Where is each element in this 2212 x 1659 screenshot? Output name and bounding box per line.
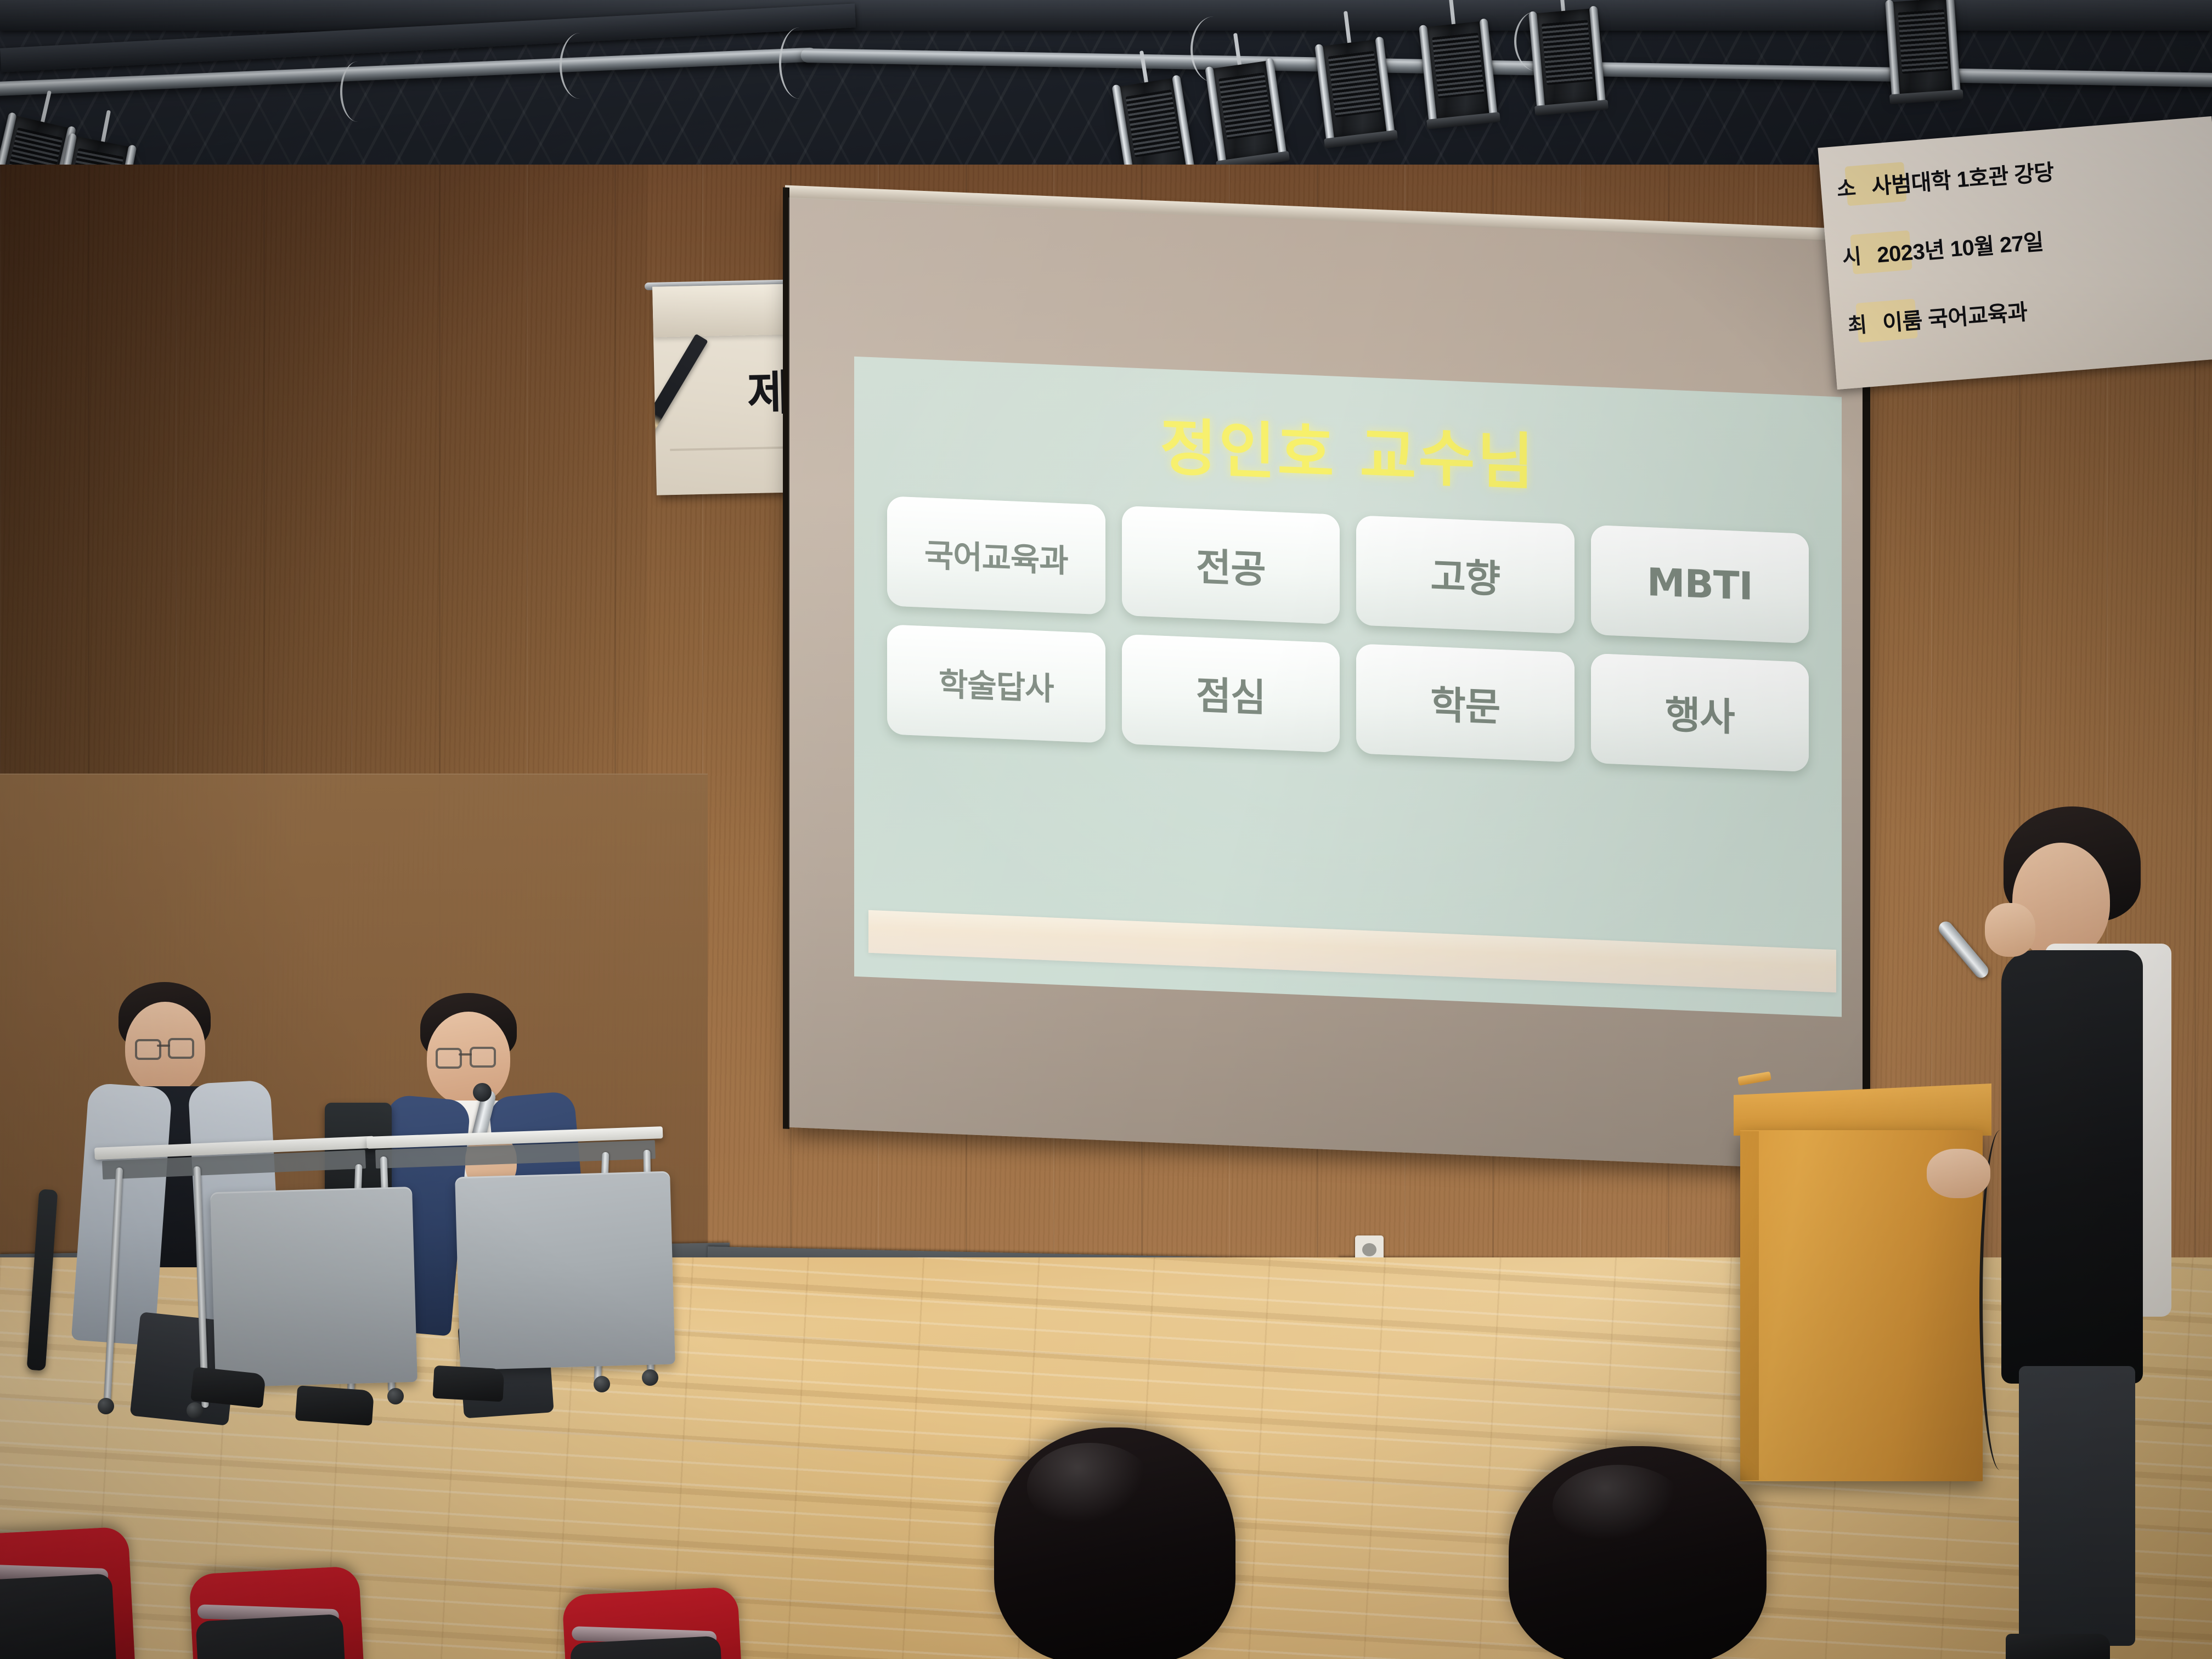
banner-value-host: 이룸 국어교육과: [1881, 294, 2029, 337]
banner-key-host: 최: [1831, 306, 1883, 340]
stage-light: [1531, 8, 1604, 108]
shoe: [433, 1365, 505, 1402]
glasses-lens-right: [470, 1047, 496, 1068]
banner-key-date: 시: [1825, 238, 1878, 272]
banner-key-location: 소: [1820, 170, 1872, 204]
lamp-vents: [1126, 89, 1181, 157]
audience-seat: [562, 1587, 744, 1659]
table-caster: [594, 1376, 610, 1392]
hair-highlight: [1553, 1465, 1684, 1547]
seat-cushion: [0, 1573, 117, 1659]
glasses-bridge: [157, 1045, 170, 1047]
stage-light: [1317, 39, 1392, 140]
lamp-vents: [1218, 72, 1273, 140]
podium-side-shadow: [1740, 1131, 1759, 1480]
stage-chair-front-left: [210, 1187, 417, 1387]
screen-sheen: [788, 198, 1864, 1171]
banner-value-location: 사범대학 1호관 강당: [1870, 154, 2055, 201]
hair-highlight: [1027, 1443, 1153, 1531]
moderator-podium: [1953, 806, 2211, 1659]
microphone-head: [473, 1083, 492, 1102]
shoe: [2006, 1634, 2110, 1659]
stage-chair-front-right: [455, 1171, 675, 1370]
shoe: [295, 1385, 374, 1426]
lamp-vents: [1328, 51, 1381, 117]
banner-fold: [652, 284, 797, 337]
table-caster: [98, 1398, 114, 1414]
projection-screen: 정인호 교수님 국어교육과 전공 고향 MBTI 학술답사 점심 학문 행사: [788, 198, 1864, 1171]
glasses-lens-right: [168, 1038, 194, 1059]
ceiling-beam-top: [0, 0, 2212, 31]
glasses-bridge: [459, 1053, 472, 1056]
audience-head: [1509, 1446, 1767, 1659]
stage-light: [1207, 60, 1285, 163]
blazer: [2001, 950, 2143, 1384]
table-caster: [387, 1388, 404, 1404]
table-caster: [642, 1369, 658, 1386]
lamp-vents: [1542, 20, 1593, 85]
hand-holding-mic: [1985, 903, 2035, 957]
banner-value-date: 2023년 10월 27일: [1876, 224, 2045, 269]
stage-light: [1421, 21, 1495, 121]
event-info-banner: 소 사범대학 1호관 강당 시 2023년 10월 27일 최 이룸 국어교육과: [1818, 116, 2212, 390]
hand-on-podium: [1927, 1149, 1990, 1198]
audience-head: [994, 1427, 1235, 1659]
audience-seat: [189, 1566, 365, 1659]
trousers: [2019, 1366, 2135, 1646]
stage-light: [1887, 0, 1959, 97]
truss-cable: [340, 61, 375, 122]
pencil-icon: [652, 334, 708, 440]
truss-cable: [560, 33, 600, 99]
table-caster: [187, 1402, 203, 1419]
blazer-left-panel: [71, 1082, 172, 1345]
screenshot-root: 제 정인호 교수님 국어교육과 전공 고향 MBTI 학술답사 점심 학문 행사: [0, 0, 2212, 1659]
lamp-vents: [1898, 9, 1948, 74]
hanging-pencil-banner: 제: [652, 284, 800, 495]
lamp-vents: [1432, 32, 1484, 98]
glasses-lens-left: [436, 1048, 462, 1069]
banner-rule: [670, 446, 795, 451]
glasses-lens-left: [135, 1039, 161, 1060]
seat-cushion: [195, 1614, 347, 1659]
audience-seat: [0, 1526, 136, 1659]
truss-cable: [779, 27, 820, 99]
